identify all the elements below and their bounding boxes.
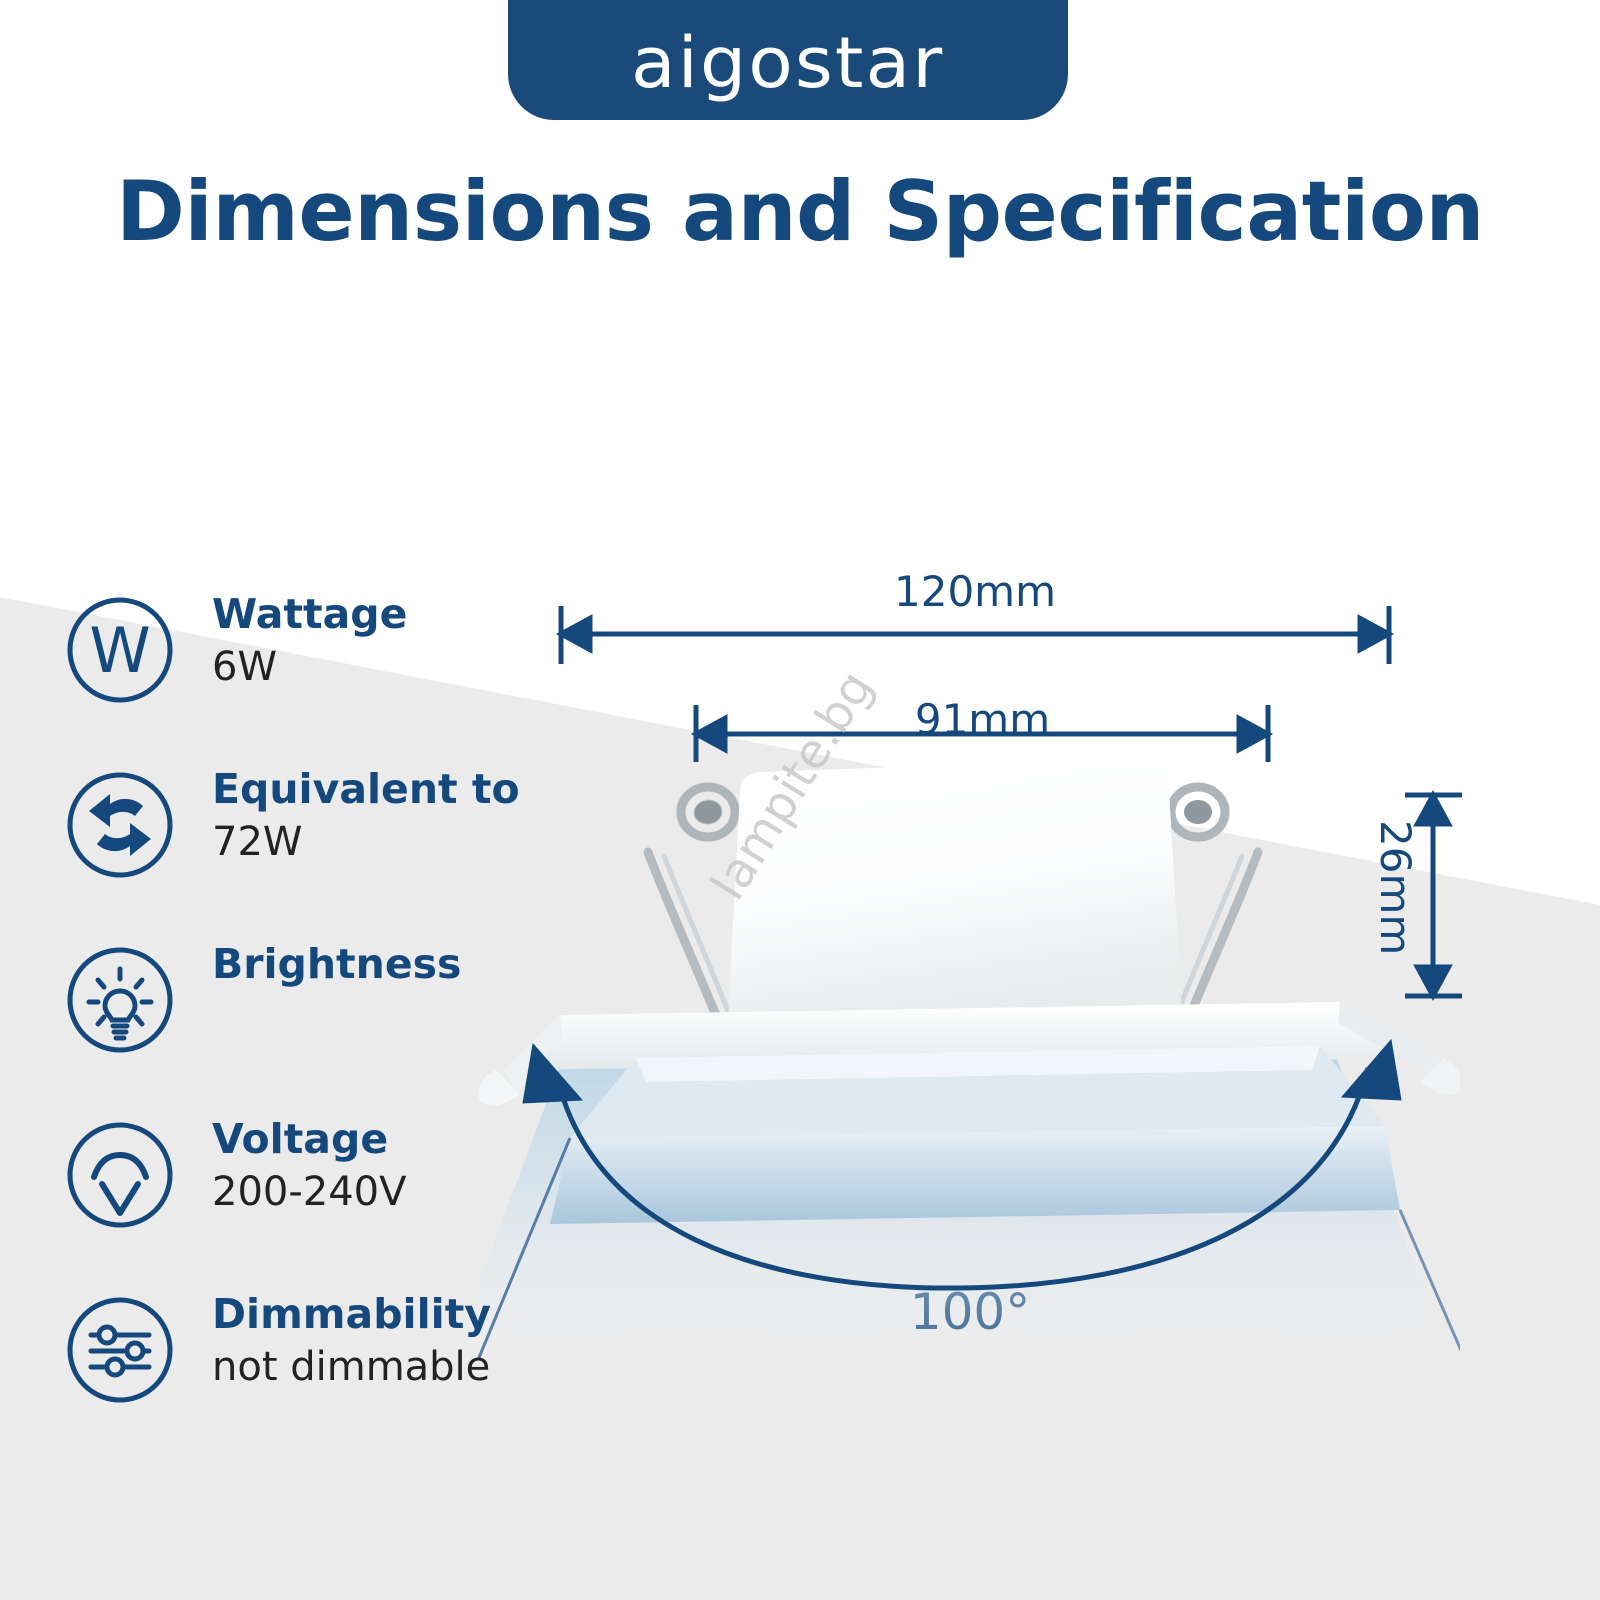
spec-label-brightness: Brightness bbox=[212, 941, 592, 989]
spec-value-voltage: 200-240V bbox=[212, 1168, 592, 1216]
spec-texts-voltage: Voltage 200-240V bbox=[212, 1116, 592, 1216]
voltage-v-circle-icon bbox=[65, 1120, 175, 1230]
page-title: Dimensions and Specification bbox=[0, 163, 1600, 260]
spec-label-equivalent: Equivalent to bbox=[212, 766, 592, 814]
spec-texts-dimmability: Dimmability not dimmable bbox=[212, 1291, 592, 1391]
brand-logo-badge: aigostar bbox=[508, 0, 1068, 120]
spec-label-wattage: Wattage bbox=[212, 591, 592, 639]
dimension-label-width-cutout: 91mm bbox=[0, 695, 1600, 744]
infographic-canvas: aigostar Dimensions and Specification bbox=[0, 0, 1600, 1600]
spec-value-equivalent: 72W bbox=[212, 818, 592, 866]
spring-clip-left bbox=[648, 787, 735, 1020]
brightness-bulb-circle-icon bbox=[65, 945, 175, 1055]
spec-texts-brightness: Brightness bbox=[212, 941, 592, 993]
product-image-downlight bbox=[440, 740, 1460, 1360]
spring-clip-right bbox=[1171, 787, 1258, 1020]
dimmability-sliders-circle-icon bbox=[65, 1295, 175, 1405]
spec-texts-equivalent: Equivalent to 72W bbox=[212, 766, 592, 866]
spec-value-wattage: 6W bbox=[212, 643, 592, 691]
equivalent-arrows-circle-icon bbox=[65, 770, 175, 880]
spec-value-dimmability: not dimmable bbox=[212, 1343, 592, 1391]
wattage-w-circle-icon: W bbox=[65, 595, 175, 705]
svg-text:W: W bbox=[89, 614, 150, 687]
spec-texts-wattage: Wattage 6W bbox=[212, 591, 592, 691]
downlight-housing bbox=[728, 758, 1182, 1020]
brand-logo-text: aigostar bbox=[631, 28, 944, 98]
spec-label-dimmability: Dimmability bbox=[212, 1291, 592, 1339]
spec-label-voltage: Voltage bbox=[212, 1116, 592, 1164]
